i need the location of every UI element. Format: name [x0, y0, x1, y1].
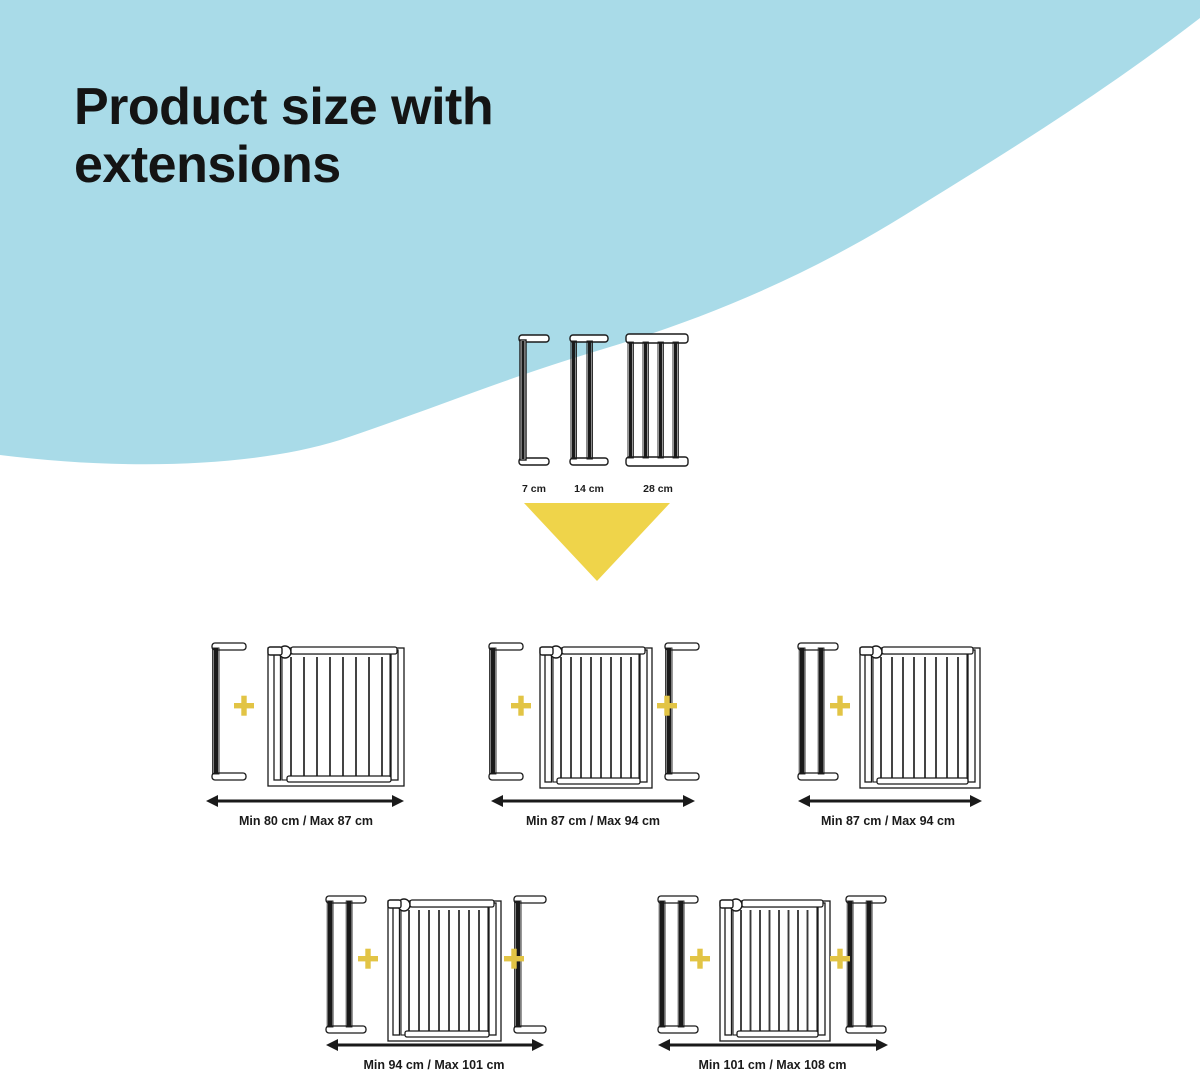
safety-gate	[388, 901, 501, 1041]
safety-gate	[540, 648, 652, 788]
config-2: Min 87 cm / Max 94 cm	[485, 636, 701, 836]
config-5-drawing	[650, 890, 895, 1050]
extension-pieces-group: 7 cm 14 cm	[505, 330, 695, 495]
config-3: Min 87 cm / Max 94 cm	[788, 636, 988, 836]
down-triangle-icon	[524, 503, 670, 581]
config-2-drawing	[485, 636, 701, 811]
gate-latch-icon	[540, 646, 562, 658]
plus-icon	[830, 696, 850, 716]
product-size-infographic: Product size with extensions 7 cm	[0, 0, 1200, 1077]
config-4-drawing	[318, 890, 550, 1050]
gate-latch-icon	[860, 646, 882, 658]
dimension-arrow	[206, 795, 404, 807]
plus-icon-left	[690, 949, 710, 969]
safety-gate	[268, 648, 404, 786]
dimension-arrow	[798, 795, 982, 807]
config-1: Min 80 cm / Max 87 cm	[198, 636, 414, 836]
config-1-drawing	[198, 636, 414, 811]
config-2-dimension-label: Min 87 cm / Max 94 cm	[485, 814, 701, 828]
page-title: Product size with extensions	[74, 78, 694, 194]
extension-14cm-drawing	[565, 330, 613, 480]
plus-icon-right	[657, 696, 677, 716]
gate-latch-icon	[388, 899, 410, 911]
plus-icon	[234, 696, 254, 716]
extension-7cm-label: 7 cm	[522, 483, 546, 495]
extension-piece-7cm: 7 cm	[513, 330, 555, 495]
config-5: Min 101 cm / Max 108 cm	[650, 890, 895, 1077]
config-1-dimension-label: Min 80 cm / Max 87 cm	[198, 814, 414, 828]
extension-14cm-label: 14 cm	[574, 483, 604, 495]
config-3-dimension-label: Min 87 cm / Max 94 cm	[788, 814, 988, 828]
config-5-dimension-label: Min 101 cm / Max 108 cm	[650, 1058, 895, 1072]
extension-piece-14cm: 14 cm	[565, 330, 613, 495]
dimension-arrow	[491, 795, 695, 807]
extension-7cm-drawing	[513, 330, 555, 480]
extension-28cm-label: 28 cm	[643, 483, 673, 495]
extension-28cm-drawing	[623, 330, 693, 480]
safety-gate	[860, 648, 980, 788]
extension-piece-28cm: 28 cm	[623, 330, 693, 495]
config-4: Min 94 cm / Max 101 cm	[318, 890, 550, 1077]
plus-icon-left	[511, 696, 531, 716]
config-3-drawing	[788, 636, 988, 811]
config-4-dimension-label: Min 94 cm / Max 101 cm	[318, 1058, 550, 1072]
safety-gate	[720, 901, 830, 1041]
gate-latch-icon	[720, 899, 742, 911]
plus-icon-left	[358, 949, 378, 969]
